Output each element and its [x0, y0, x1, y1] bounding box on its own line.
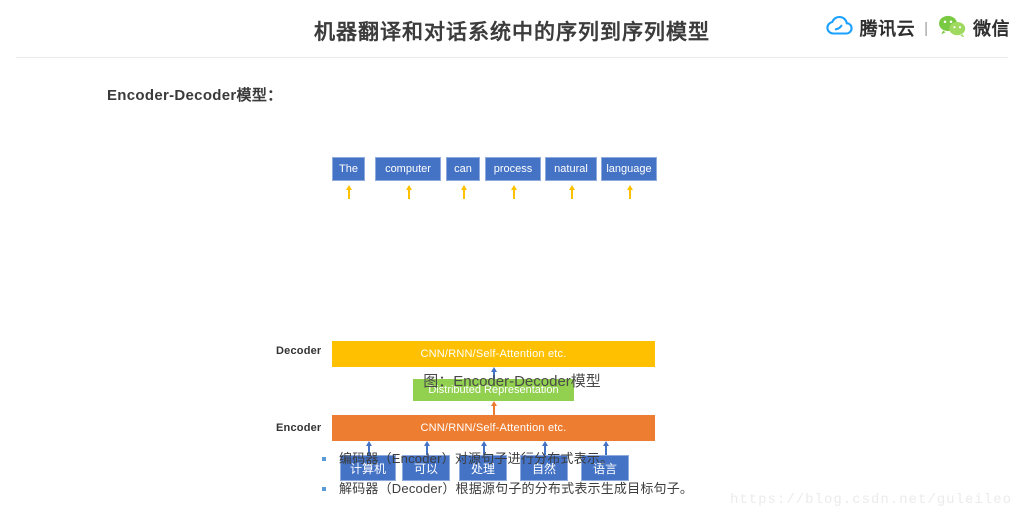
header-divider	[16, 57, 1008, 58]
row-label-decoder: Decoder	[276, 345, 321, 357]
output-token-box: natural	[545, 157, 597, 181]
wechat-icon	[937, 14, 967, 43]
arrow-up-to-output	[463, 185, 465, 199]
brand-wechat: 微信	[937, 14, 1010, 43]
arrow-up-to-output	[571, 185, 573, 199]
brand-separator: |	[924, 20, 928, 37]
output-token-box: process	[485, 157, 541, 181]
arrow-up-to-output	[348, 185, 350, 199]
arrow-up-to-output	[408, 185, 410, 199]
figure-caption: 图：Encoder-Decoder模型	[0, 370, 1024, 391]
bullet-marker-icon	[322, 487, 326, 491]
brand-lockup: 腾讯云 | 微信	[826, 13, 1010, 43]
section-label: Encoder-Decoder模型：	[107, 84, 282, 105]
cloud-icon	[826, 15, 854, 42]
arrow-encoder-to-representation	[493, 401, 495, 415]
output-token-box: The	[332, 157, 365, 181]
arrow-up-to-output	[629, 185, 631, 199]
arrow-up-to-output	[513, 185, 515, 199]
output-token-box: computer	[375, 157, 441, 181]
decoder-bar: CNN/RNN/Self-Attention etc.	[332, 341, 655, 367]
list-item-label: 编码器（Encoder）对源句子进行分布式表示。	[339, 450, 613, 467]
list-item-label: 解码器（Decoder）根据源句子的分布式表示生成目标句子。	[339, 480, 693, 497]
bullet-marker-icon	[322, 457, 326, 461]
encoder-decoder-diagram: Decoder Encoder The computer can process…	[262, 145, 662, 345]
brand-wechat-label: 微信	[973, 15, 1010, 41]
watermark: https://blog.csdn.net/guleileo	[730, 492, 1012, 508]
output-token-box: language	[601, 157, 657, 181]
row-label-encoder: Encoder	[276, 422, 321, 434]
encoder-bar: CNN/RNN/Self-Attention etc.	[332, 415, 655, 441]
list-item: 编码器（Encoder）对源句子进行分布式表示。	[322, 450, 922, 467]
brand-tencent-cloud-label: 腾讯云	[860, 15, 916, 41]
brand-tencent-cloud: 腾讯云	[826, 15, 916, 42]
output-token-box: can	[446, 157, 480, 181]
slide-header: 机器翻译和对话系统中的序列到序列模型 腾讯云 |	[0, 0, 1024, 58]
